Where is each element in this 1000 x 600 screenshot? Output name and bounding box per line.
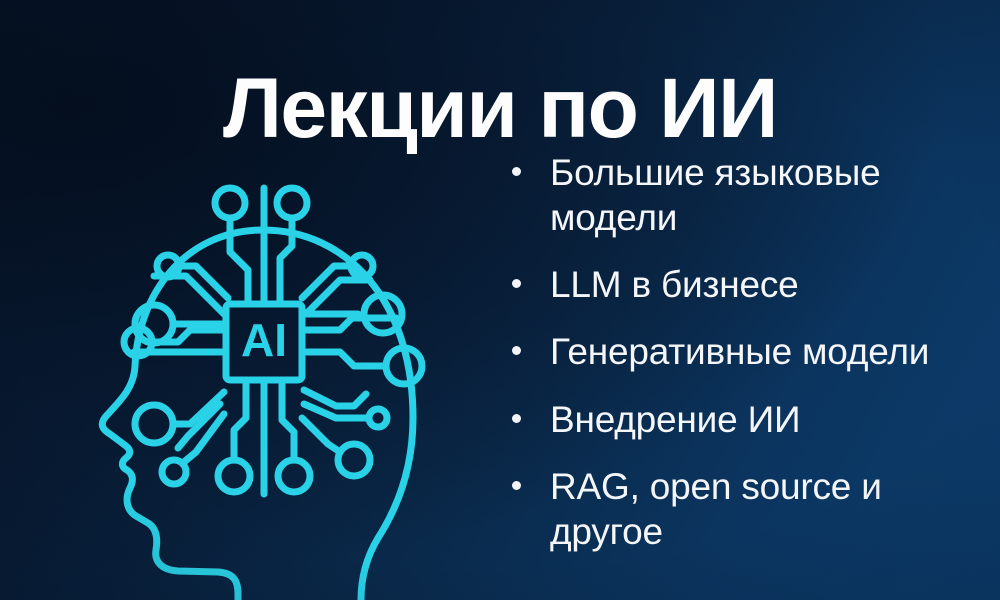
trace-down-right: [282, 380, 294, 460]
node-top-left-ring: [215, 188, 245, 218]
list-item-label: Генеративные модели: [550, 329, 982, 374]
node-ll-ring: [135, 405, 173, 443]
bullet-dot-icon: [512, 167, 521, 176]
trace-down-left: [234, 380, 246, 460]
trace-right-mid2: [302, 352, 386, 366]
node-bottom-left-ring: [218, 460, 250, 492]
node-lr-dot-ring: [369, 409, 387, 427]
bullet-dot-icon: [512, 414, 521, 423]
list-item-label: RAG, open source и другое: [550, 464, 982, 554]
list-item: RAG, open source и другое: [512, 464, 982, 554]
list-item-label: Большие языковые модели: [550, 150, 982, 240]
list-item: Внедрение ИИ: [512, 397, 982, 442]
bullet-dot-icon: [512, 279, 521, 288]
lecture-topics-list: Большие языковые модели LLM в бизнесе Ге…: [512, 150, 982, 554]
ai-brain-illustration: AI: [78, 118, 448, 600]
node-ur-small-ring: [351, 255, 373, 277]
trace-lr-diag1: [304, 390, 366, 406]
node-lr-ring: [338, 444, 370, 476]
ai-brain-svg: AI: [78, 118, 448, 600]
list-item-label: LLM в бизнесе: [550, 262, 982, 307]
list-item: Генеративные модели: [512, 329, 982, 374]
ai-chip-label: AI: [241, 314, 287, 366]
bullet-dot-icon: [512, 346, 521, 355]
node-top-right-ring: [277, 188, 307, 218]
trace-lr-diag3: [302, 418, 340, 452]
head-back-path: [361, 418, 413, 600]
list-item-label: Внедрение ИИ: [550, 397, 982, 442]
trace-left-mid1: [150, 330, 226, 342]
list-item: Большие языковые модели: [512, 150, 982, 240]
list-item: LLM в бизнесе: [512, 262, 982, 307]
trace-right-mid1: [302, 318, 396, 330]
poster-canvas: Лекции по ИИ: [0, 0, 1000, 600]
node-bottom-right-ring: [278, 460, 310, 492]
bullet-dot-icon: [512, 481, 521, 490]
node-ll-small-ring: [162, 460, 186, 484]
